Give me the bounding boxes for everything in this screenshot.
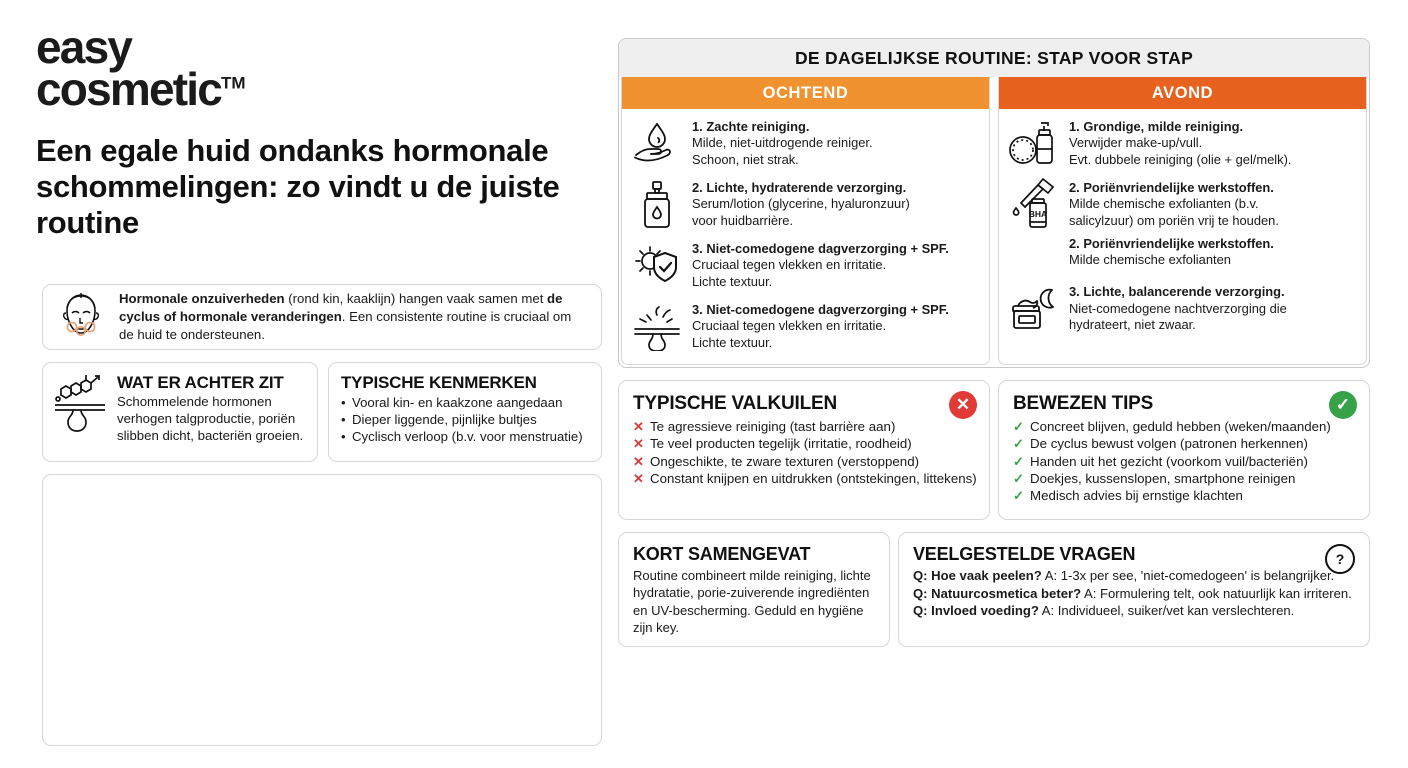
- routine-step-text: 3. Niet-comedogene dagverzorging + SPF. …: [692, 241, 979, 290]
- routine-step: BHA 2. Poriënvriendelijke werkstoffen. M…: [1007, 180, 1356, 268]
- faq-question: Q: Hoe vaak peelen?: [913, 568, 1042, 583]
- routine-step-line: Niet-comedogene nachtverzorging die: [1069, 301, 1356, 317]
- list-item-label: Constant knijpen en uitdrukken (ontsteki…: [650, 471, 977, 486]
- pitfalls-tips-row: ✕ TYPISCHE VALKUILEN ✕Te agressieve rein…: [618, 380, 1370, 520]
- routine-step-text: 1. Zachte reiniging. Milde, niet-uitdrog…: [692, 119, 979, 168]
- list-item: Q: Hoe vaak peelen? A: 1-3x per see, 'ni…: [913, 567, 1357, 585]
- list-item: Q: Invloed voeding? A: Individueel, suik…: [913, 602, 1357, 620]
- morning-column: OCHTEND: [621, 77, 990, 365]
- routine-step-title: 2. Poriënvriendelijke werkstoffen.: [1069, 180, 1356, 196]
- brand-line-1: easy: [36, 26, 608, 68]
- list-item: Cyclisch verloop (b.v. voor menstruatie): [341, 428, 591, 445]
- routine-step-title: 2. Poriënvriendelijke werkstoffen.: [1069, 236, 1356, 252]
- intro-bold-1: Hormonale onzuiverheden: [119, 291, 285, 306]
- pitfalls-box: ✕ TYPISCHE VALKUILEN ✕Te agressieve rein…: [618, 380, 990, 520]
- list-item-label: Medisch advies bij ernstige klachten: [1030, 488, 1243, 503]
- list-item-label: Te agressieve reiniging (tast barrière a…: [650, 419, 895, 434]
- left-column: easy cosmeticTM Een egale huid ondanks h…: [36, 26, 608, 742]
- list-item: ✓Concreet blijven, geduld hebben (weken/…: [1013, 418, 1357, 435]
- page-title: Een egale huid ondanks hormonale schomme…: [36, 133, 596, 241]
- features-box: TYPISCHE KENMERKEN Vooral kin- en kaakzo…: [328, 362, 602, 462]
- list-item: Dieper liggende, pijnlijke bultjes: [341, 411, 591, 428]
- intro-text: Hormonale onzuiverheden (rond kin, kaakl…: [119, 290, 589, 343]
- list-item-label: Handen uit het gezicht (voorkom vuil/bac…: [1030, 454, 1308, 469]
- list-item-label: Te veel producten tegelijk (irritatie, r…: [650, 436, 912, 451]
- faq-answer: A: 1-3x per see, 'niet-comedogeen' is be…: [1042, 568, 1335, 583]
- routine-columns: OCHTEND: [619, 77, 1369, 367]
- list-item: ✕Te veel producten tegelijk (irritatie, …: [633, 435, 977, 452]
- routine-panel: DE DAGELIJKSE ROUTINE: STAP VOOR STAP OC…: [618, 38, 1370, 368]
- face-chin-acne-icon: [55, 291, 107, 343]
- routine-step-title: 1. Grondige, milde reiniging.: [1069, 119, 1356, 135]
- brand-line-2: cosmeticTM: [36, 68, 608, 110]
- list-item: ✓De cyclus bewust volgen (patronen herke…: [1013, 435, 1357, 452]
- infographic-page: easy cosmeticTM Een egale huid ondanks h…: [0, 0, 1408, 768]
- list-item-label: Doekjes, kussenslopen, smartphone reinig…: [1030, 471, 1295, 486]
- morning-steps: 1. Zachte reiniging. Milde, niet-uitdrog…: [622, 109, 989, 364]
- routine-step-text: 3. Lichte, balancerende verzorging. Niet…: [1069, 284, 1356, 333]
- intro-text-1: (rond kin, kaaklijn) hangen vaak samen m…: [285, 291, 547, 306]
- list-item: Vooral kin- en kaakzone aangedaan: [341, 394, 591, 411]
- faq-title: VEELGESTELDE VRAGEN: [913, 544, 1357, 565]
- clogged-pore-icon: [630, 302, 684, 352]
- faq-answer: A: Formulering telt, ook natuurlijk kan …: [1081, 586, 1352, 601]
- routine-step-line: Milde, niet-uitdrogende reiniger.: [692, 135, 979, 151]
- check-mark-icon: ✓: [1013, 488, 1024, 505]
- sun-shield-spf-icon: [630, 241, 684, 291]
- bha-dropper-bottle-icon: BHA: [1007, 180, 1061, 230]
- cotton-pad-pump-bottle-icon: [1007, 119, 1061, 169]
- routine-step-text: 1. Grondige, milde reiniging. Verwijder …: [1069, 119, 1356, 168]
- routine-step: 1. Zachte reiniging. Milde, niet-uitdrog…: [630, 119, 979, 169]
- routine-step-text: 2. Lichte, hydraterende verzorging. Seru…: [692, 180, 979, 229]
- left-boxes-row: WAT ER ACHTER ZIT Schommelende hormonen …: [42, 362, 602, 462]
- faq-question: Q: Invloed voeding?: [913, 603, 1039, 618]
- list-item: ✓Handen uit het gezicht (voorkom vuil/ba…: [1013, 453, 1357, 470]
- why-box: WAT ER ACHTER ZIT Schommelende hormonen …: [42, 362, 318, 462]
- routine-step-line: Schoon, niet strak.: [692, 152, 979, 168]
- faq-answer: A: Individueel, suiker/vet kan verslecht…: [1039, 603, 1294, 618]
- features-box-title: TYPISCHE KENMERKEN: [341, 373, 591, 393]
- routine-step-line: Verwijder make-up/vull.: [1069, 135, 1356, 151]
- faq-box: ? VEELGESTELDE VRAGEN Q: Hoe vaak peelen…: [898, 532, 1370, 647]
- summary-title: KORT SAMENGEVAT: [633, 544, 877, 565]
- evening-steps: 1. Grondige, milde reiniging. Verwijder …: [999, 109, 1366, 346]
- routine-step-text: 3. Niet-comedogene dagverzorging + SPF. …: [692, 302, 979, 351]
- routine-step-title: 2. Lichte, hydraterende verzorging.: [692, 180, 979, 196]
- list-item-label: Concreet blijven, geduld hebben (weken/m…: [1030, 419, 1331, 434]
- circle-check-icon: ✓: [1329, 391, 1357, 419]
- routine-step-line: hydrateert, niet zwaar.: [1069, 317, 1356, 333]
- list-item: ✕Constant knijpen en uitdrukken (ontstek…: [633, 470, 977, 487]
- tips-box: ✓ BEWEZEN TIPS ✓Concreet blijven, geduld…: [998, 380, 1370, 520]
- pitfalls-list: ✕Te agressieve reiniging (tast barrière …: [633, 418, 977, 487]
- brand-logo: easy cosmeticTM: [36, 26, 608, 111]
- faq-question: Q: Natuurcosmetica beter?: [913, 586, 1081, 601]
- summary-box: KORT SAMENGEVAT Routine combineert milde…: [618, 532, 890, 647]
- x-mark-icon: ✕: [633, 419, 644, 436]
- routine-step-title: 3. Niet-comedogene dagverzorging + SPF.: [692, 302, 979, 318]
- routine-step-title: 3. Lichte, balancerende verzorging.: [1069, 284, 1356, 300]
- routine-step-line: Evt. dubbele reiniging (olie + gel/melk)…: [1069, 152, 1356, 168]
- routine-step-title: 1. Zachte reiniging.: [692, 119, 979, 135]
- routine-step-line: Milde chemische exfolianten (b.v.: [1069, 196, 1356, 212]
- routine-step-line: salicylzuur) om poriën vrij te houden.: [1069, 213, 1356, 229]
- right-column: DE DAGELIJKSE ROUTINE: STAP VOOR STAP OC…: [618, 38, 1370, 647]
- routine-step-line: Cruciaal tegen vlekken en irritatie.: [692, 318, 979, 334]
- x-mark-icon: ✕: [633, 436, 644, 453]
- evening-header: AVOND: [999, 77, 1366, 109]
- why-box-title: WAT ER ACHTER ZIT: [117, 373, 307, 393]
- water-drop-hand-icon: [630, 119, 684, 169]
- routine-step: 3. Lichte, balancerende verzorging. Niet…: [1007, 284, 1356, 334]
- routine-title: DE DAGELIJKSE ROUTINE: STAP VOOR STAP: [619, 39, 1369, 77]
- hormone-molecule-pore-icon: [51, 373, 109, 435]
- empty-placeholder-box: [42, 474, 602, 746]
- trademark-symbol: TM: [221, 74, 246, 93]
- summary-body: Routine combineert milde reiniging, lich…: [633, 567, 877, 636]
- routine-step-line: Cruciaal tegen vlekken en irritatie.: [692, 257, 979, 273]
- routine-step-line: Milde chemische exfolianten: [1069, 252, 1356, 268]
- routine-step: 3. Niet-comedogene dagverzorging + SPF. …: [630, 302, 979, 352]
- intro-card: Hormonale onzuiverheden (rond kin, kaakl…: [42, 284, 602, 350]
- routine-step: 2. Lichte, hydraterende verzorging. Seru…: [630, 180, 979, 230]
- list-item: ✕Te agressieve reiniging (tast barrière …: [633, 418, 977, 435]
- list-item: ✕Ongeschikte, te zware texturen (verstop…: [633, 453, 977, 470]
- check-mark-icon: ✓: [1013, 436, 1024, 453]
- tips-title: BEWEZEN TIPS: [1013, 393, 1357, 415]
- summary-faq-row: KORT SAMENGEVAT Routine combineert milde…: [618, 532, 1370, 647]
- night-cream-moon-icon: [1007, 284, 1061, 334]
- why-box-body: Schommelende hormonen verhogen talgprodu…: [117, 394, 307, 444]
- features-list: Vooral kin- en kaakzone aangedaan Dieper…: [341, 394, 591, 445]
- routine-step-text: 2. Poriënvriendelijke werkstoffen. Milde…: [1069, 180, 1356, 268]
- routine-step-line: Lichte textuur.: [692, 274, 979, 290]
- question-mark-icon: ?: [1325, 544, 1355, 574]
- routine-step: 3. Niet-comedogene dagverzorging + SPF. …: [630, 241, 979, 291]
- tips-list: ✓Concreet blijven, geduld hebben (weken/…: [1013, 418, 1357, 504]
- faq-list: Q: Hoe vaak peelen? A: 1-3x per see, 'ni…: [913, 567, 1357, 620]
- svg-text:BHA: BHA: [1029, 209, 1047, 219]
- list-item: ✓Doekjes, kussenslopen, smartphone reini…: [1013, 470, 1357, 487]
- morning-header: OCHTEND: [622, 77, 989, 109]
- check-mark-icon: ✓: [1013, 419, 1024, 436]
- list-item-label: Ongeschikte, te zware texturen (verstopp…: [650, 454, 919, 469]
- check-mark-icon: ✓: [1013, 454, 1024, 471]
- list-item: ✓Medisch advies bij ernstige klachten: [1013, 487, 1357, 504]
- circle-x-icon: ✕: [949, 391, 977, 419]
- list-item-label: De cyclus bewust volgen (patronen herken…: [1030, 436, 1308, 451]
- routine-step-line: voor huidbarrière.: [692, 213, 979, 229]
- check-mark-icon: ✓: [1013, 471, 1024, 488]
- routine-step-line: Serum/lotion (glycerine, hyaluronzuur): [692, 196, 979, 212]
- x-mark-icon: ✕: [633, 454, 644, 471]
- routine-step-title: 3. Niet-comedogene dagverzorging + SPF.: [692, 241, 979, 257]
- routine-step: 1. Grondige, milde reiniging. Verwijder …: [1007, 119, 1356, 169]
- evening-column: AVOND: [998, 77, 1367, 365]
- list-item: Q: Natuurcosmetica beter? A: Formulering…: [913, 585, 1357, 603]
- routine-step-line: Lichte textuur.: [692, 335, 979, 351]
- serum-dropper-bottle-icon: [630, 180, 684, 230]
- pitfalls-title: TYPISCHE VALKUILEN: [633, 393, 977, 415]
- x-mark-icon: ✕: [633, 471, 644, 488]
